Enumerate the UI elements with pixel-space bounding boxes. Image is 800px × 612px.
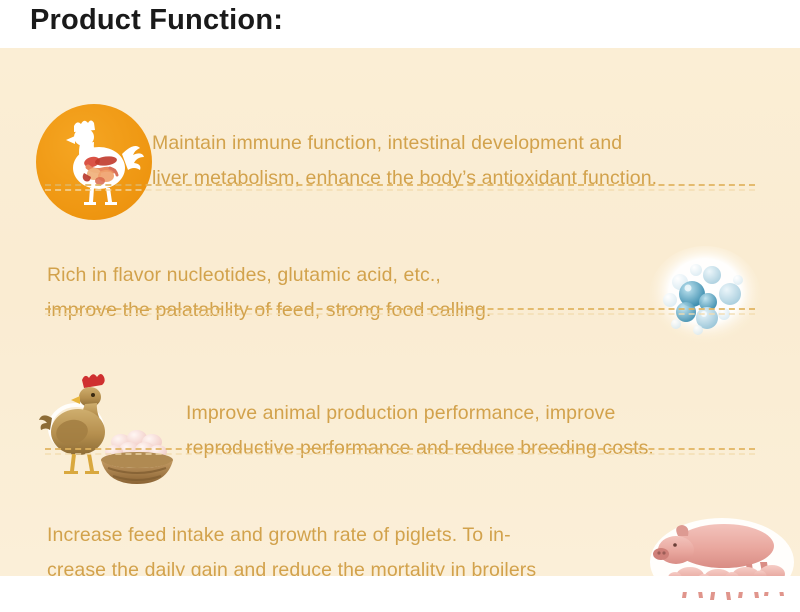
content-panel: Maintain immune function, intestinal dev… <box>0 48 800 576</box>
chicken-anatomy-badge-icon <box>36 104 152 220</box>
divider-3 <box>45 448 755 450</box>
divider-2 <box>45 308 755 310</box>
page-title: Product Function: <box>30 4 283 37</box>
hen-with-egg-basket-icon <box>38 370 183 492</box>
bottom-white-strip <box>0 576 800 592</box>
row-line: Improve animal production performance, i… <box>186 396 654 431</box>
sow-with-piglets-icon <box>642 514 796 612</box>
title-band: Product Function: <box>0 0 800 48</box>
row-line: Rich in flavor nucleotides, glutamic aci… <box>47 258 491 293</box>
divider-1 <box>45 184 755 186</box>
row-line: Maintain immune function, intestinal dev… <box>152 126 657 161</box>
row-line: Increase feed intake and growth rate of … <box>47 518 536 553</box>
product-function-poster: Product Function: <box>0 0 800 592</box>
row-line: improve the palatability of feed, strong… <box>47 293 491 328</box>
row-text-flavor-nucleotides: Rich in flavor nucleotides, glutamic aci… <box>47 258 491 328</box>
row-text-production-performance: Improve animal production performance, i… <box>186 396 654 466</box>
molecule-cell-icon <box>646 244 764 352</box>
